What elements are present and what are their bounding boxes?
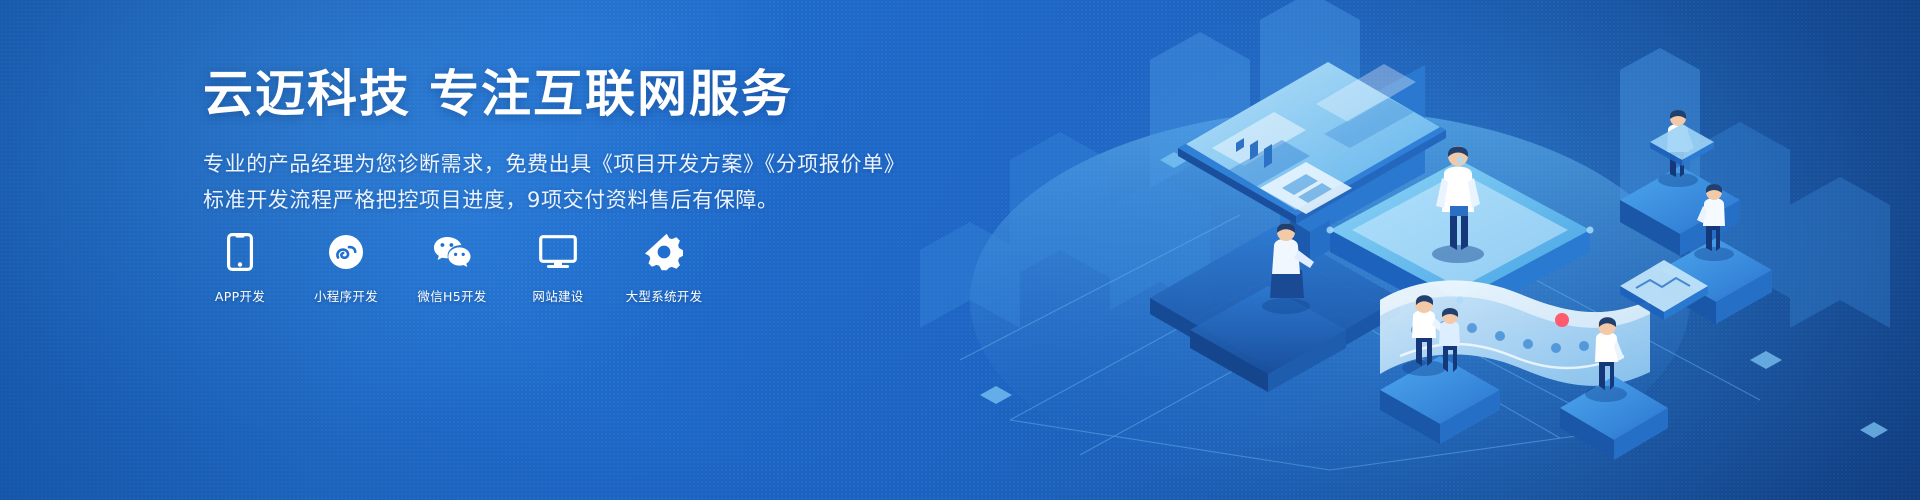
service-label-website: 网站建设 xyxy=(532,286,583,305)
wechat-icon xyxy=(432,232,472,272)
service-label-system: 大型系统开发 xyxy=(626,286,703,305)
headline-tagline: 专注互联网服务 xyxy=(429,65,793,123)
service-label-app: APP开发 xyxy=(215,286,265,305)
service-item-wechat-h5[interactable]: 微信H5开发 xyxy=(415,232,489,305)
subtitle-line-1: 专业的产品经理为您诊断需求，免费出具《项目开发方案》《分项报价单》 xyxy=(203,146,923,182)
isometric-illustration xyxy=(860,0,1920,500)
gear-icon xyxy=(644,232,684,272)
service-item-mini-program[interactable]: 小程序开发 xyxy=(309,232,383,305)
headline-brand: 云迈科技 xyxy=(203,65,411,123)
service-item-website[interactable]: 网站建设 xyxy=(521,232,595,305)
mini-program-icon xyxy=(326,232,366,272)
service-list: APP开发 小程序开发 xyxy=(203,232,701,305)
service-label-wechat-h5: 微信H5开发 xyxy=(417,286,486,305)
smartphone-icon xyxy=(220,232,260,272)
service-item-system[interactable]: 大型系统开发 xyxy=(627,232,701,305)
hero-copy: 云迈科技专注互联网服务 专业的产品经理为您诊断需求，免费出具《项目开发方案》《分… xyxy=(203,66,923,218)
hero-banner: 云迈科技专注互联网服务 专业的产品经理为您诊断需求，免费出具《项目开发方案》《分… xyxy=(0,0,1920,500)
subtitle-line-2: 标准开发流程严格把控项目进度，9项交付资料售后有保障。 xyxy=(203,182,923,218)
monitor-icon xyxy=(538,232,578,272)
page-title: 云迈科技专注互联网服务 xyxy=(203,66,923,122)
service-item-app[interactable]: APP开发 xyxy=(203,232,277,305)
service-label-mini-program: 小程序开发 xyxy=(314,286,378,305)
